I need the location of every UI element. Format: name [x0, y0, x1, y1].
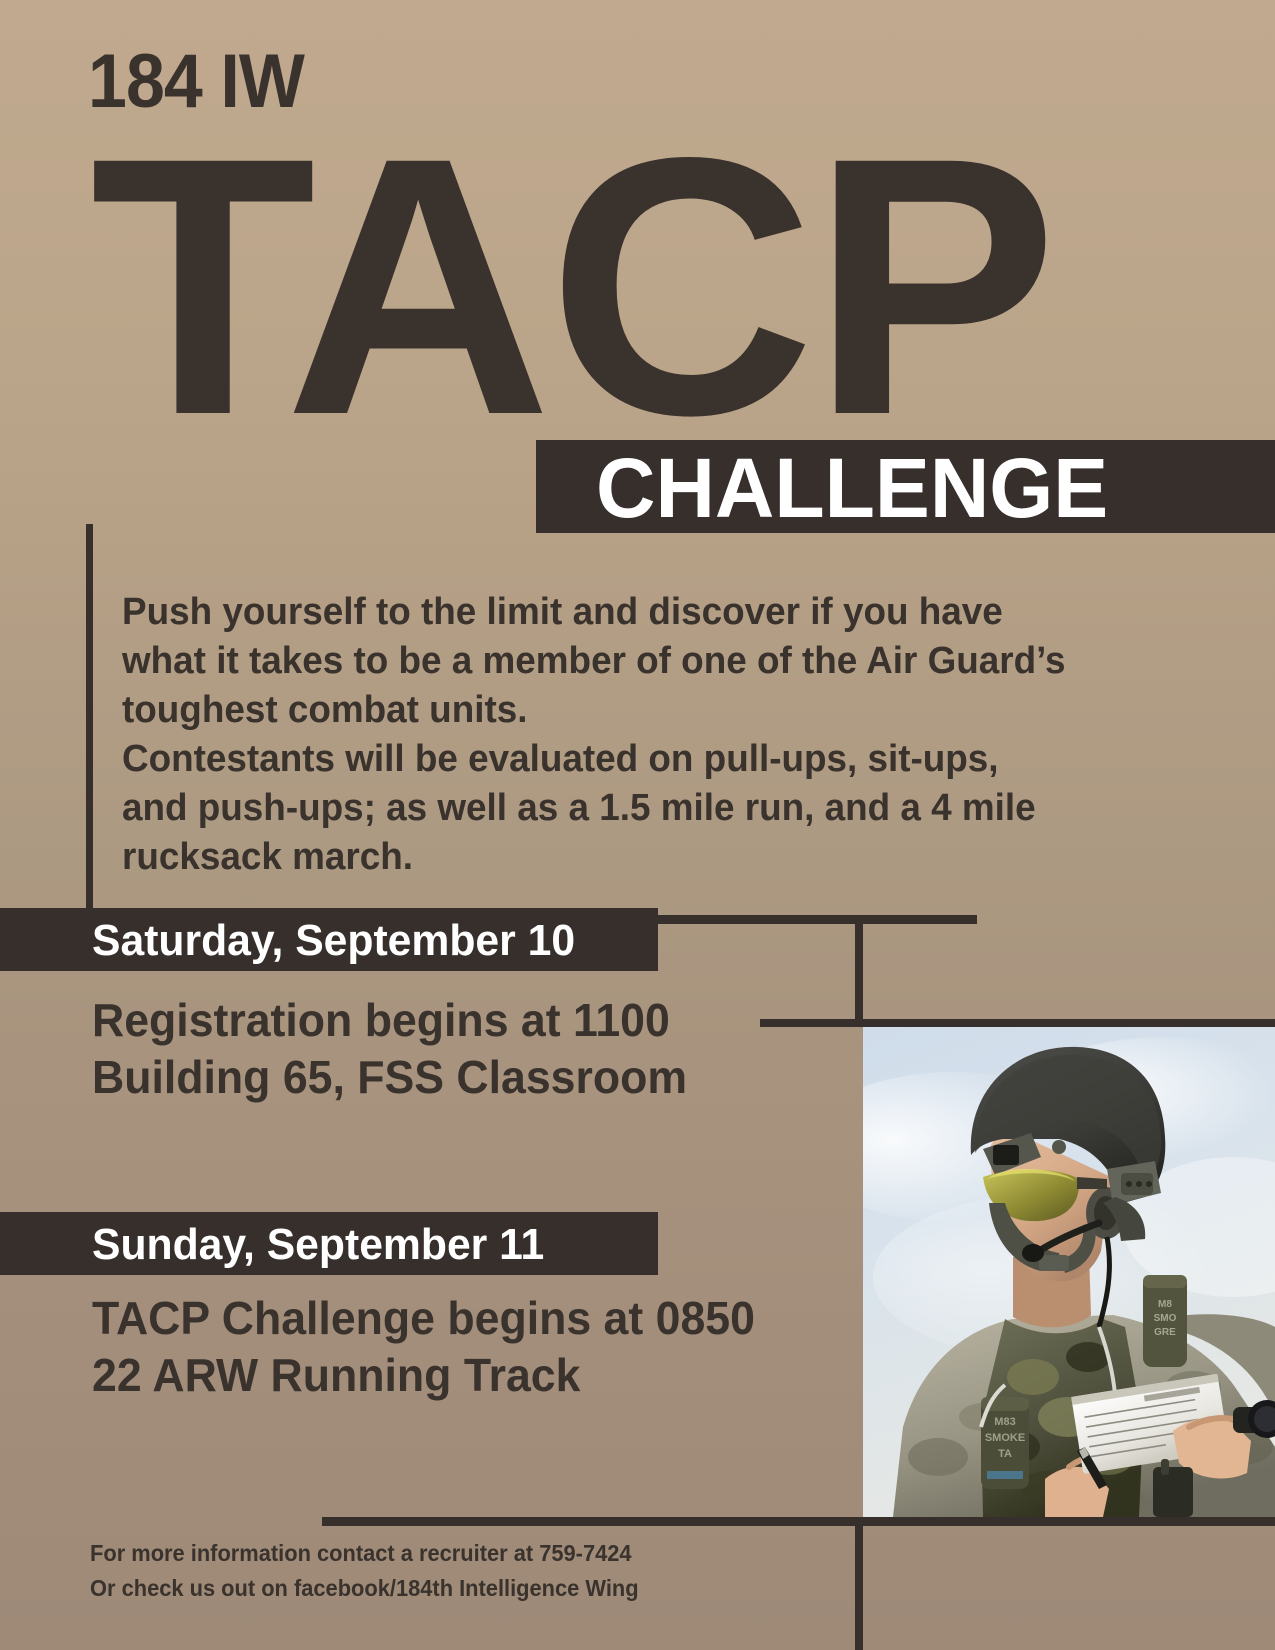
svg-text:SMOKE: SMOKE — [985, 1432, 1025, 1444]
day-detail-saturday-line-1: Registration begins at 1100 — [92, 992, 687, 1049]
day-detail-sunday-line-1: TACP Challenge begins at 0850 — [92, 1290, 755, 1347]
footer-contact: For more information contact a recruiter… — [90, 1536, 639, 1606]
page-title: TACP — [90, 104, 1054, 471]
intro-paragraph-2: Contestants will be evaluated on pull-up… — [122, 735, 1073, 882]
day-detail-sunday: TACP Challenge begins at 0850 22 ARW Run… — [92, 1290, 755, 1404]
poster: 184 IW TACP CHALLENGE Push yourself to t… — [0, 0, 1275, 1650]
intro-copy: Push yourself to the limit and discover … — [122, 588, 1073, 882]
day-detail-sunday-line-2: 22 ARW Running Track — [92, 1347, 755, 1404]
intro-paragraph-1: Push yourself to the limit and discover … — [122, 588, 1073, 735]
page-subtitle: CHALLENGE — [596, 442, 1108, 534]
svg-text:TA: TA — [998, 1448, 1012, 1460]
footer-line-2: Or check us out on facebook/184th Intell… — [90, 1571, 639, 1606]
soldier-photo-illustration: M83 SMOKE TA M8 SMO GRE — [863, 1027, 1275, 1517]
day-detail-saturday: Registration begins at 1100 Building 65,… — [92, 992, 687, 1106]
footer-vertical-rule — [855, 1517, 863, 1650]
svg-text:M8: M8 — [1158, 1299, 1172, 1310]
svg-text:SMO: SMO — [1154, 1313, 1177, 1324]
intro-vertical-rule — [86, 524, 93, 922]
day-detail-saturday-line-2: Building 65, FSS Classroom — [92, 1049, 687, 1106]
subtitle-bar: CHALLENGE — [536, 440, 1275, 533]
midsection-vertical-rule — [855, 915, 863, 1027]
svg-text:GRE: GRE — [1154, 1327, 1176, 1338]
day-label-saturday: Saturday, September 10 — [92, 911, 575, 971]
footer-horizontal-rule — [322, 1517, 1275, 1526]
footer-line-1: For more information contact a recruiter… — [90, 1536, 639, 1571]
day-bar-sunday: Sunday, September 11 — [0, 1212, 658, 1275]
svg-text:M83: M83 — [994, 1416, 1015, 1428]
photo-top-rule — [760, 1019, 1275, 1027]
day-label-sunday: Sunday, September 11 — [92, 1215, 544, 1275]
day-bar-saturday: Saturday, September 10 — [0, 908, 658, 971]
soldier-photo: M83 SMOKE TA M8 SMO GRE — [863, 1027, 1275, 1517]
